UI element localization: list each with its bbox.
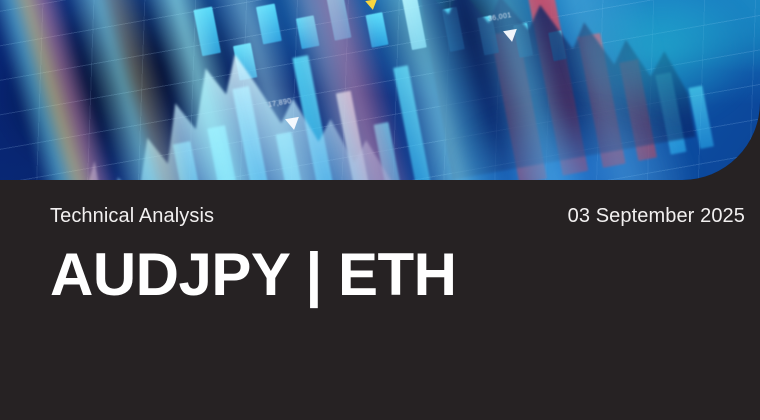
publish-date: 03 September 2025: [568, 206, 745, 226]
hero-image: 17,890 36,001: [0, 0, 760, 180]
meta-row: Technical Analysis 03 September 2025: [50, 206, 745, 226]
white-triangle-marker: [285, 117, 301, 131]
analysis-card: 17,890 36,001 Technical Analysis 03 Sept…: [0, 0, 760, 420]
content-panel: Technical Analysis 03 September 2025 AUD…: [0, 180, 760, 420]
category-label: Technical Analysis: [50, 206, 214, 226]
blue-glow: [395, 79, 745, 180]
white-triangle-marker: [503, 29, 519, 43]
hero-artwork: 17,890 36,001: [0, 0, 760, 180]
page-title: AUDJPY | ETH: [50, 245, 456, 305]
